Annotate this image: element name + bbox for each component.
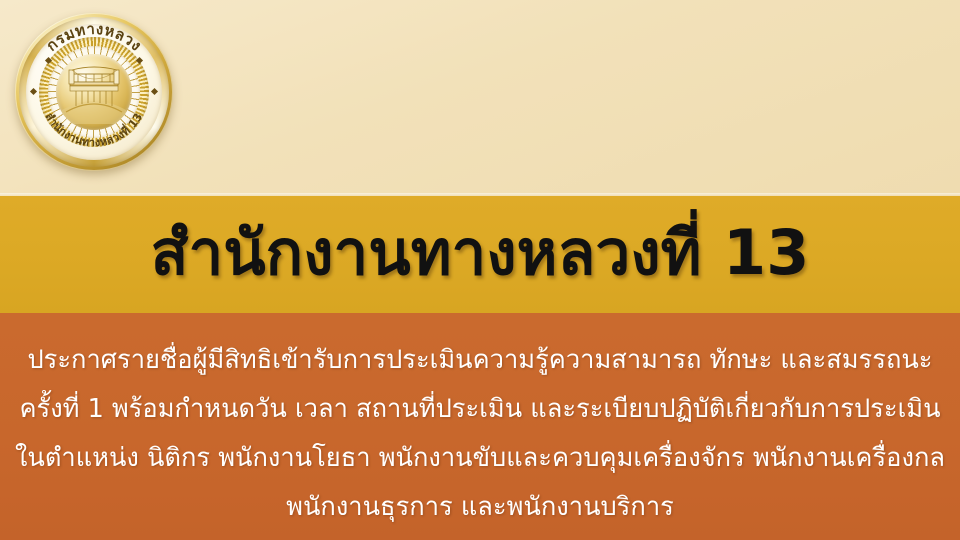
announcement-line: ประกาศรายชื่อผู้มีสิทธิเข้ารับการประเมิน… xyxy=(0,336,960,385)
emblem-center-disc xyxy=(56,54,132,130)
emblem-logo: กรมทางหลวง สำนักงานทางหลวงที่ 13 xyxy=(9,8,179,180)
emblem-disc: กรมทางหลวง สำนักงานทางหลวงที่ 13 xyxy=(15,13,173,171)
announcement-poster: กรมทางหลวง สำนักงานทางหลวงที่ 13 ส xyxy=(0,0,960,540)
header-band: กรมทางหลวง สำนักงานทางหลวงที่ 13 xyxy=(0,0,960,196)
announcement-band: ประกาศรายชื่อผู้มีสิทธิเข้ารับการประเมิน… xyxy=(0,313,960,540)
page-title: สำนักงานทางหลวงที่ 13 xyxy=(151,222,810,288)
title-band: สำนักงานทางหลวงที่ 13 xyxy=(0,196,960,313)
announcement-line: พนักงานธุรการ และพนักงานบริการ xyxy=(0,483,960,532)
announcement-line: ครั้งที่ 1 พร้อมกำหนดวัน เวลา สถานที่ประ… xyxy=(0,385,960,434)
announcement-line: ในตำแหน่ง นิติกร พนักงานโยธา พนักงานขับแ… xyxy=(0,434,960,483)
bridge-emblem-icon xyxy=(56,54,132,130)
